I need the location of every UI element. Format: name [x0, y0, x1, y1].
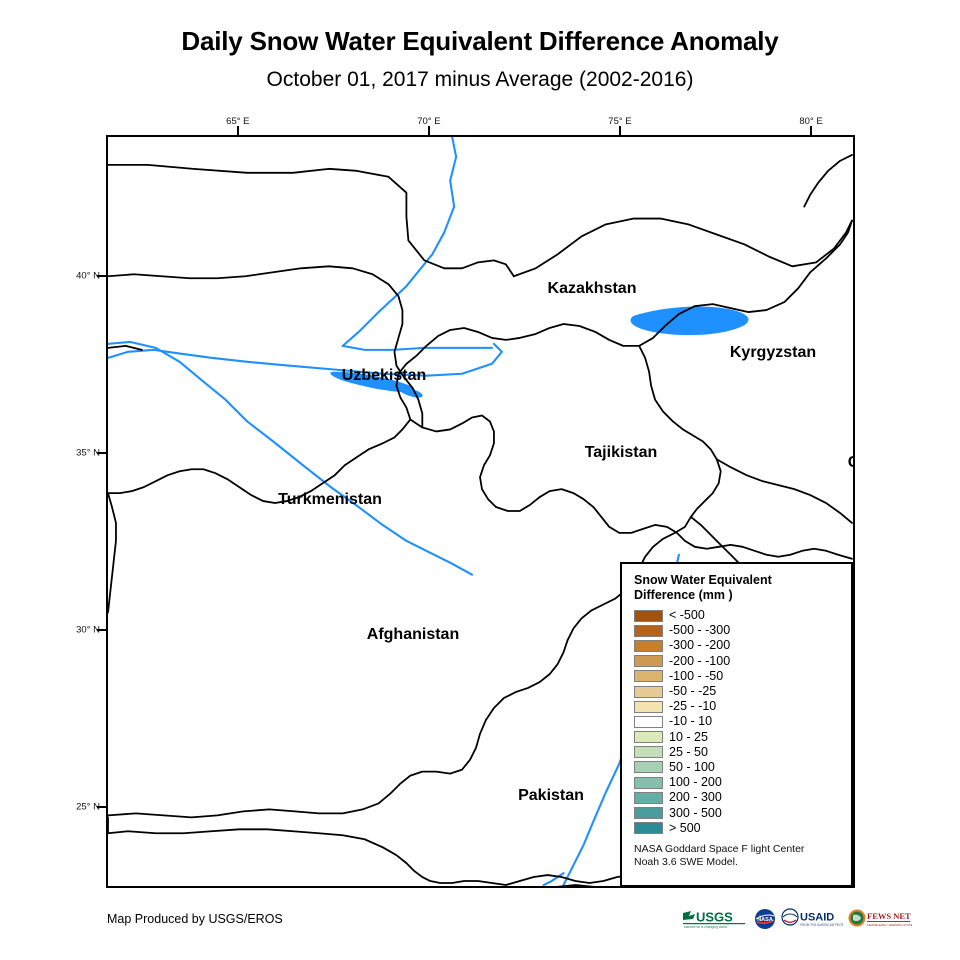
lat-tick-mark — [97, 806, 106, 808]
svg-text:FAMINE EARLY WARNING SYSTEMS N: FAMINE EARLY WARNING SYSTEMS NETWORK — [867, 923, 912, 927]
lat-tick-label: 35° N — [58, 448, 100, 459]
legend-label: -500 - -300 — [669, 624, 730, 637]
country-label-turkmenistan: Turkmenistan — [278, 491, 382, 509]
nasa-logo: NASA — [754, 908, 776, 930]
legend-class-list: < -500-500 - -300-300 - -200-200 - -100-… — [634, 608, 841, 836]
legend-credit-line1: NASA Goddard Space F light Center — [634, 843, 841, 857]
legend-label: < -500 — [669, 609, 705, 622]
map-legend: Snow Water Equivalent Difference (mm ) <… — [620, 562, 853, 887]
legend-swatch — [634, 625, 663, 637]
svg-text:USGS: USGS — [696, 910, 733, 925]
legend-swatch — [634, 701, 663, 713]
map-producer-text: Map Produced by USGS/EROS — [107, 912, 283, 926]
legend-swatch — [634, 807, 663, 819]
legend-title-line2: Difference (mm ) — [634, 588, 841, 603]
lon-tick-mark — [619, 126, 621, 135]
legend-swatch — [634, 655, 663, 667]
legend-label: 50 - 100 — [669, 761, 715, 774]
country-label-kyrgyzstan: Kyrgyzstan — [730, 344, 816, 362]
lat-tick-mark — [97, 452, 106, 454]
legend-row: -200 - -100 — [634, 654, 841, 669]
legend-row: > 500 — [634, 821, 841, 836]
legend-row: 300 - 500 — [634, 805, 841, 820]
legend-credit-line2: Noah 3.6 SWE Model. — [634, 856, 841, 870]
legend-row: 10 - 25 — [634, 730, 841, 745]
country-label-kazakhstan: Kazakhstan — [548, 280, 637, 298]
svg-text:science for a changing world: science for a changing world — [684, 925, 727, 929]
legend-row: -500 - -300 — [634, 623, 841, 638]
legend-label: 300 - 500 — [669, 807, 722, 820]
legend-label: -300 - -200 — [669, 639, 730, 652]
svg-text:FEWS NET: FEWS NET — [867, 911, 911, 921]
legend-row: 50 - 100 — [634, 760, 841, 775]
legend-label: -50 - -25 — [669, 685, 716, 698]
legend-label: 200 - 300 — [669, 791, 722, 804]
legend-credit: NASA Goddard Space F light Center Noah 3… — [634, 843, 841, 870]
legend-row: -50 - -25 — [634, 684, 841, 699]
lat-tick-mark — [97, 275, 106, 277]
legend-swatch — [634, 777, 663, 789]
lon-tick-mark — [810, 126, 812, 135]
legend-title: Snow Water Equivalent Difference (mm ) — [634, 573, 841, 603]
legend-row: 25 - 50 — [634, 745, 841, 760]
legend-row: -25 - -10 — [634, 699, 841, 714]
legend-swatch — [634, 746, 663, 758]
legend-row: 100 - 200 — [634, 775, 841, 790]
country-label-uzbekistan: Uzbekistan — [342, 367, 426, 385]
country-label-pakistan: Pakistan — [518, 787, 584, 805]
legend-row: 200 - 300 — [634, 790, 841, 805]
usgs-logo: USGS science for a changing world — [681, 908, 749, 930]
lat-tick-mark — [97, 629, 106, 631]
legend-row: -300 - -200 — [634, 638, 841, 653]
agency-logos: USGS science for a changing world NASA U… — [681, 908, 912, 930]
legend-label: 25 - 50 — [669, 746, 708, 759]
lon-tick-mark — [237, 126, 239, 135]
lon-tick-mark — [428, 126, 430, 135]
legend-swatch — [634, 686, 663, 698]
svg-text:NASA: NASA — [757, 917, 773, 923]
legend-label: 10 - 25 — [669, 731, 708, 744]
country-label-china: China — [848, 454, 855, 472]
legend-label: > 500 — [669, 822, 701, 835]
legend-row: -100 - -50 — [634, 669, 841, 684]
country-label-tajikistan: Tajikistan — [585, 444, 658, 462]
legend-swatch — [634, 716, 663, 728]
page-subtitle: October 01, 2017 minus Average (2002-201… — [0, 68, 960, 92]
svg-text:FROM THE AMERICAN PEOPLE: FROM THE AMERICAN PEOPLE — [800, 923, 843, 927]
legend-swatch — [634, 670, 663, 682]
legend-swatch — [634, 822, 663, 834]
page-title: Daily Snow Water Equivalent Difference A… — [0, 26, 960, 57]
legend-row: < -500 — [634, 608, 841, 623]
legend-swatch — [634, 731, 663, 743]
country-label-afghanistan: Afghanistan — [367, 626, 459, 644]
legend-swatch — [634, 792, 663, 804]
legend-row: -10 - 10 — [634, 714, 841, 729]
legend-label: -25 - -10 — [669, 700, 716, 713]
svg-text:USAID: USAID — [800, 912, 834, 924]
legend-label: 100 - 200 — [669, 776, 722, 789]
legend-swatch — [634, 640, 663, 652]
fewsnet-logo: FEWS NET FAMINE EARLY WARNING SYSTEMS NE… — [848, 908, 912, 930]
legend-swatch — [634, 761, 663, 773]
legend-label: -10 - 10 — [669, 715, 712, 728]
lat-tick-label: 25° N — [58, 801, 100, 812]
legend-label: -200 - -100 — [669, 655, 730, 668]
lat-tick-label: 40° N — [58, 271, 100, 282]
legend-title-line1: Snow Water Equivalent — [634, 573, 841, 588]
legend-swatch — [634, 610, 663, 622]
legend-label: -100 - -50 — [669, 670, 723, 683]
usaid-logo: USAID FROM THE AMERICAN PEOPLE — [781, 908, 843, 930]
lat-tick-label: 30° N — [58, 624, 100, 635]
